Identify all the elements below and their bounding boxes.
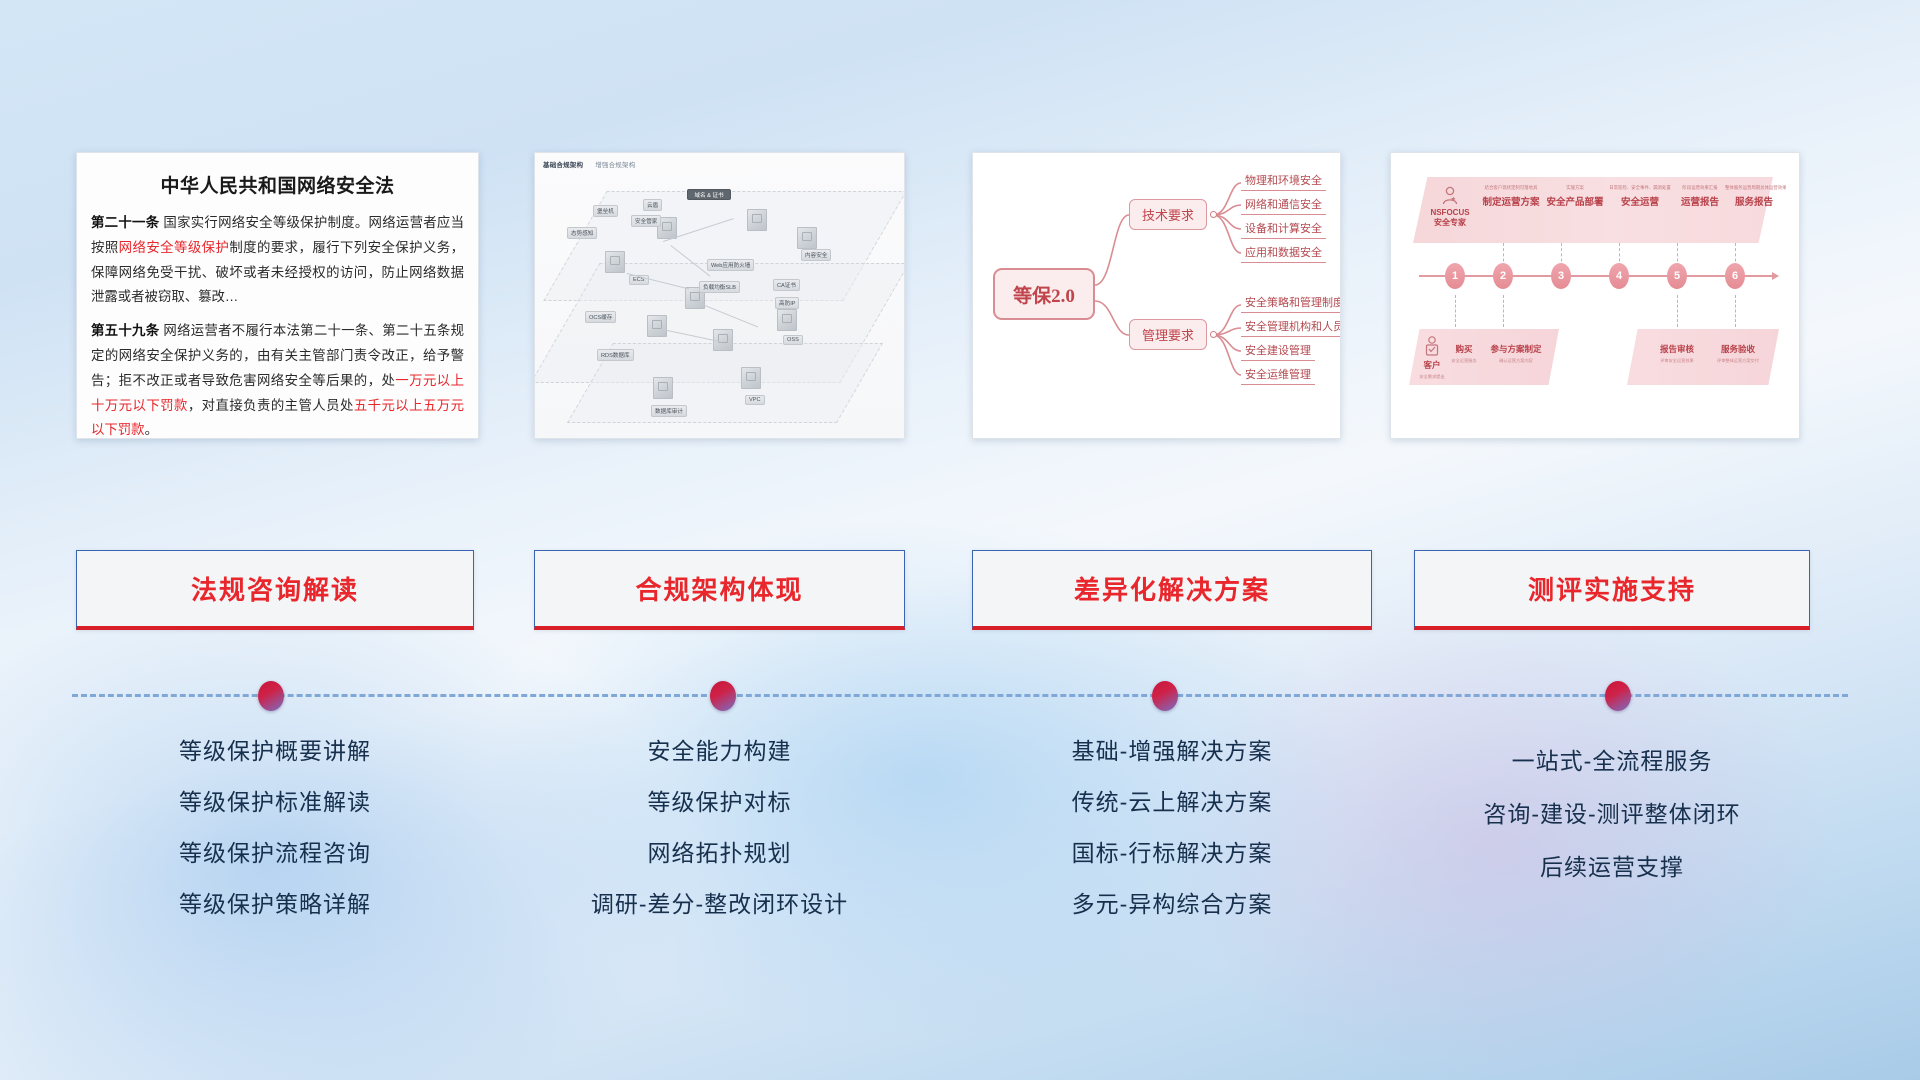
mindmap-leaf-mgmt-2: 安全建设管理	[1241, 341, 1315, 361]
nsfocus-step-4: 4	[1609, 263, 1629, 289]
architecture-node-15: VPC	[745, 395, 765, 405]
timeline-dashed-line	[72, 694, 1848, 697]
architecture-diagram: 基础合规架构增强合规架构 域名 & 证书 堡垒机 云盾 安全管家 态势感知 内容…	[535, 153, 904, 438]
list-item: 多元-异构综合方案	[972, 893, 1372, 916]
nsfocus-top-col-1-main: 安全产品部署	[1543, 194, 1607, 208]
nsfocus-brand-line-1: NSFOCUS	[1421, 208, 1479, 218]
nsfocus-axis	[1419, 275, 1773, 277]
architecture-cube-i	[741, 367, 761, 389]
headline-label-4: 测评实施支持	[1528, 570, 1696, 607]
nsfocus-step-3: 3	[1551, 263, 1571, 289]
mindmap-leaf-mgmt-1: 安全管理机构和人员	[1241, 317, 1341, 337]
timeline-marker-1	[258, 681, 284, 711]
nsfocus-top-col-0: 结合客户现状定制可落地具 制定运营方案	[1479, 185, 1543, 208]
law-title: 中华人民共和国网络安全法	[77, 153, 478, 211]
nsfocus-brand-line-2: 安全专家	[1421, 218, 1479, 228]
nsfocus-step-1: 1	[1445, 263, 1465, 289]
mindmap-leaf-tech-1: 网络和通信安全	[1241, 195, 1326, 215]
nsfocus-dash-bot-5	[1677, 295, 1678, 327]
architecture-cube-f	[647, 315, 667, 337]
architecture-cube-c	[797, 227, 817, 249]
law-article-21: 第二十一条 国家实行网络安全等级保护制度。网络运营者应当按照网络安全等级保护制度…	[91, 211, 464, 310]
timeline-marker-3	[1152, 681, 1178, 711]
nsfocus-bottom-col-3-sub: 评审整体运营方案交付	[1707, 358, 1769, 363]
mindmap-leaf-tech-2: 设备和计算安全	[1241, 219, 1326, 239]
list-item: 国标-行标解决方案	[972, 842, 1372, 865]
list-item: 网络拓扑规划	[534, 842, 905, 865]
nsfocus-top-col-1: 实施方案 安全产品部署	[1543, 185, 1607, 208]
nsfocus-top-col-0-sub: 结合客户现状定制可落地具	[1479, 185, 1543, 191]
architecture-node-5: 内容安全	[801, 249, 831, 261]
card-nsfocus-timeline: NSFOCUS 安全专家 结合客户现状定制可落地具 制定运营方案 实施方案 安全…	[1390, 152, 1800, 439]
bullet-column-4: 一站式-全流程服务 咨询-建设-测评整体闭环 后续运营支撑	[1414, 750, 1810, 909]
architecture-tab-other[interactable]: 增强合规架构	[595, 162, 635, 169]
mindmap-collapse-icon-technical[interactable]	[1210, 211, 1217, 218]
mindmap: 等保2.0 技术要求 物理和环境安全 网络和通信安全 设备和计算安全 应用和数据…	[973, 153, 1340, 438]
nsfocus-bottom-col-3: 服务验收 评审整体运营方案交付	[1707, 343, 1769, 363]
nsfocus-top-col-4-sub: 整体服务运营周期总体运营效果	[1725, 185, 1783, 191]
nsfocus-top-col-0-main: 制定运营方案	[1479, 194, 1543, 208]
architecture-tabs: 基础合规架构增强合规架构	[543, 159, 635, 169]
list-item: 基础-增强解决方案	[972, 740, 1372, 763]
nsfocus-top-col-3-main: 运营报告	[1673, 194, 1727, 208]
law-article-21-label: 第二十一条	[91, 215, 159, 230]
architecture-cube-d	[605, 251, 625, 273]
nsfocus-top-col-2-main: 安全运营	[1607, 194, 1673, 208]
mindmap-branch-management: 管理要求	[1129, 319, 1207, 350]
nsfocus-top-col-1-sub: 实施方案	[1543, 185, 1607, 191]
law-article-59-text-b: ，对直接负责的主管人员处	[188, 398, 354, 413]
nsfocus-top-col-3-sub: 阶段运营效果汇报	[1673, 185, 1727, 191]
list-item: 一站式-全流程服务	[1414, 750, 1810, 773]
nsfocus-step-2: 2	[1493, 263, 1513, 289]
nsfocus-bottom-col-0-main: 购买	[1443, 343, 1485, 355]
nsfocus-top-col-4: 整体服务运营周期总体运营效果 服务报告	[1725, 185, 1783, 208]
nsfocus-customer-sub: 安全需求提出	[1417, 374, 1447, 379]
timeline-marker-4	[1605, 681, 1631, 711]
law-article-59: 第五十九条 网络运营者不履行本法第二十一条、第二十五条规定的网络安全保护义务的，…	[91, 319, 464, 439]
bullet-column-2: 安全能力构建 等级保护对标 网络拓扑规划 调研-差分-整改闭环设计	[534, 740, 905, 944]
nsfocus-bottom-col-1: 参与方案制定 确认运营方案内容	[1485, 343, 1547, 363]
card-dengbao-mindmap: 等保2.0 技术要求 物理和环境安全 网络和通信安全 设备和计算安全 应用和数据…	[972, 152, 1341, 439]
headline-box-2[interactable]: 合规架构体现	[534, 550, 905, 630]
customer-person-icon	[1423, 335, 1441, 357]
architecture-node-dark: 域名 & 证书	[687, 189, 731, 200]
architecture-node-2: 安全管家	[631, 215, 661, 227]
list-item: 后续运营支撑	[1414, 856, 1810, 879]
architecture-cube-b	[747, 209, 767, 231]
list-item: 等级保护流程咨询	[76, 842, 474, 865]
list-item: 调研-差分-整改闭环设计	[534, 893, 905, 916]
architecture-tab-active[interactable]: 基础合规架构	[543, 162, 583, 169]
headline-label-3: 差异化解决方案	[1074, 570, 1270, 607]
nsfocus-top-col-4-main: 服务报告	[1725, 194, 1783, 208]
poster-stage: 中华人民共和国网络安全法 第二十一条 国家实行网络安全等级保护制度。网络运营者应…	[0, 0, 1920, 1080]
headline-box-1[interactable]: 法规咨询解读	[76, 550, 474, 630]
law-article-21-highlight: 网络安全等级保护	[119, 240, 230, 255]
nsfocus-bottom-col-0-sub: 安全运营服务	[1443, 358, 1485, 363]
mindmap-leaf-tech-3: 应用和数据安全	[1241, 243, 1326, 263]
nsfocus-step-6: 6	[1725, 263, 1745, 289]
mindmap-root-node: 等保2.0	[993, 268, 1095, 320]
mindmap-branch-technical: 技术要求	[1129, 199, 1207, 230]
bullet-column-3: 基础-增强解决方案 传统-云上解决方案 国标-行标解决方案 多元-异构综合方案	[972, 740, 1372, 944]
card-cybersecurity-law: 中华人民共和国网络安全法 第二十一条 国家实行网络安全等级保护制度。网络运营者应…	[76, 152, 479, 439]
nsfocus-diagram: NSFOCUS 安全专家 结合客户现状定制可落地具 制定运营方案 实施方案 安全…	[1391, 153, 1799, 438]
nsfocus-top-col-2-sub: 日常巡检、安全事件、漏洞处置	[1607, 185, 1673, 191]
nsfocus-top-col-3: 阶段运营效果汇报 运营报告	[1673, 185, 1727, 208]
architecture-node-6: Web应用防火墙	[707, 259, 754, 271]
architecture-node-12: OCS缓存	[585, 311, 616, 323]
nsfocus-bottom-col-0: 购买 安全运营服务	[1443, 343, 1485, 363]
mindmap-leaf-tech-0: 物理和环境安全	[1241, 171, 1326, 191]
architecture-cube-j	[653, 377, 673, 399]
nsfocus-bottom-col-3-main: 服务验收	[1707, 343, 1769, 355]
architecture-node-11: OSS	[783, 335, 803, 345]
law-article-59-label: 第五十九条	[91, 323, 159, 338]
architecture-node-0: 堡垒机	[593, 205, 618, 217]
architecture-node-7: 负载均衡SLB	[699, 281, 740, 293]
architecture-node-3: 态势感知	[567, 227, 597, 239]
nsfocus-brand: NSFOCUS 安全专家	[1421, 185, 1479, 228]
architecture-node-13: RDS数据库	[597, 349, 634, 361]
headline-box-3[interactable]: 差异化解决方案	[972, 550, 1372, 630]
law-article-59-text-c: 。	[145, 422, 158, 437]
bullet-column-1: 等级保护概要讲解 等级保护标准解读 等级保护流程咨询 等级保护策略详解	[76, 740, 474, 944]
headline-label-1: 法规咨询解读	[191, 570, 359, 607]
nsfocus-dash-bot-1	[1455, 295, 1456, 327]
architecture-node-1: 云盾	[643, 199, 662, 211]
architecture-node-9: CA证书	[773, 279, 800, 291]
list-item: 咨询-建设-测评整体闭环	[1414, 803, 1810, 826]
list-item: 安全能力构建	[534, 740, 905, 763]
law-body: 第二十一条 国家实行网络安全等级保护制度。网络运营者应当按照网络安全等级保护制度…	[77, 211, 478, 439]
nsfocus-bottom-col-2: 报告审核 评审安全运营效果	[1647, 343, 1707, 363]
headline-label-2: 合规架构体现	[635, 570, 803, 607]
nsfocus-bottom-col-1-sub: 确认运营方案内容	[1485, 358, 1547, 363]
list-item: 传统-云上解决方案	[972, 791, 1372, 814]
nsfocus-dash-bot-2	[1503, 295, 1504, 327]
list-item: 等级保护对标	[534, 791, 905, 814]
expert-person-icon	[1439, 185, 1461, 207]
nsfocus-bottom-col-2-sub: 评审安全运营效果	[1647, 358, 1707, 363]
nsfocus-step-5: 5	[1667, 263, 1687, 289]
architecture-cube-h	[777, 309, 797, 331]
list-item: 等级保护策略详解	[76, 893, 474, 916]
nsfocus-top-col-2: 日常巡检、安全事件、漏洞处置 安全运营	[1607, 185, 1673, 208]
mindmap-leaf-mgmt-0: 安全策略和管理制度	[1241, 293, 1341, 313]
card-compliance-architecture: 基础合规架构增强合规架构 域名 & 证书 堡垒机 云盾 安全管家 态势感知 内容…	[534, 152, 905, 439]
list-item: 等级保护标准解读	[76, 791, 474, 814]
architecture-node-10: 高防IP	[775, 297, 799, 309]
mindmap-leaf-mgmt-3: 安全运维管理	[1241, 365, 1315, 385]
timeline-marker-2	[710, 681, 736, 711]
nsfocus-bottom-col-1-main: 参与方案制定	[1485, 343, 1547, 355]
headline-box-4[interactable]: 测评实施支持	[1414, 550, 1810, 630]
architecture-node-14: 数据库审计	[651, 405, 687, 417]
mindmap-collapse-icon-management[interactable]	[1210, 331, 1217, 338]
list-item: 等级保护概要讲解	[76, 740, 474, 763]
nsfocus-bottom-col-2-main: 报告审核	[1647, 343, 1707, 355]
nsfocus-dash-bot-6	[1735, 295, 1736, 327]
